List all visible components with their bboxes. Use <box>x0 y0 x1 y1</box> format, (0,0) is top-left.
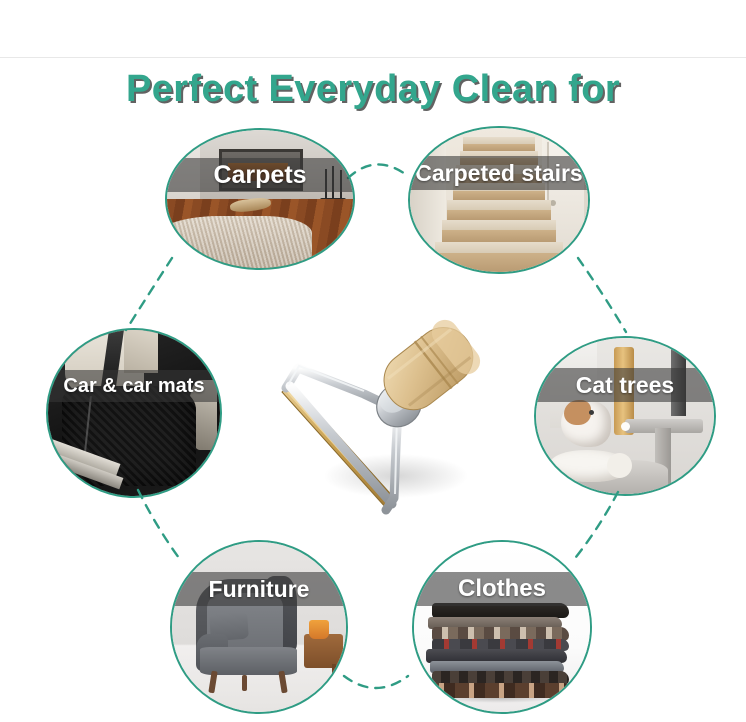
node-car-and-car-mats[interactable]: Car & car mats <box>46 328 222 498</box>
clothes-label-band: Clothes <box>414 572 590 606</box>
cat-trees-label-band: Cat trees <box>536 368 714 402</box>
connector-carpets-stairs <box>348 164 408 178</box>
connector-furniture-clothes <box>344 676 408 688</box>
car-photo <box>48 330 220 496</box>
node-clothes[interactable]: Clothes <box>412 540 592 714</box>
car-label-band: Car & car mats <box>48 370 220 402</box>
node-label-carpets: Carpets <box>213 161 306 190</box>
node-carpets[interactable]: Carpets <box>165 128 355 270</box>
furniture-photo <box>172 542 346 712</box>
infographic-page: Perfect Everyday Clean for Carpets <box>0 0 746 722</box>
node-label-furniture: Furniture <box>209 576 310 603</box>
clothes-photo <box>414 542 590 712</box>
cat-trees-photo <box>536 338 714 494</box>
product-lint-remover <box>268 298 496 524</box>
connector-carpets-car <box>126 258 172 330</box>
node-label-car-and-car-mats: Car & car mats <box>63 375 204 398</box>
header-divider <box>0 57 746 58</box>
node-furniture[interactable]: Furniture <box>170 540 348 714</box>
carpets-label-band: Carpets <box>167 158 353 192</box>
furniture-label-band: Furniture <box>172 572 346 606</box>
node-label-carpeted-stairs: Carpeted stairs <box>415 160 582 187</box>
carpeted-stairs-label-band: Carpeted stairs <box>410 156 588 190</box>
node-label-cat-trees: Cat trees <box>576 372 674 399</box>
node-cat-trees[interactable]: Cat trees <box>534 336 716 496</box>
carpets-photo <box>167 130 353 268</box>
node-label-clothes: Clothes <box>458 575 546 603</box>
node-carpeted-stairs[interactable]: Carpeted stairs <box>408 126 590 274</box>
carpeted-stairs-photo <box>410 128 588 272</box>
page-title: Perfect Everyday Clean for <box>0 68 746 111</box>
